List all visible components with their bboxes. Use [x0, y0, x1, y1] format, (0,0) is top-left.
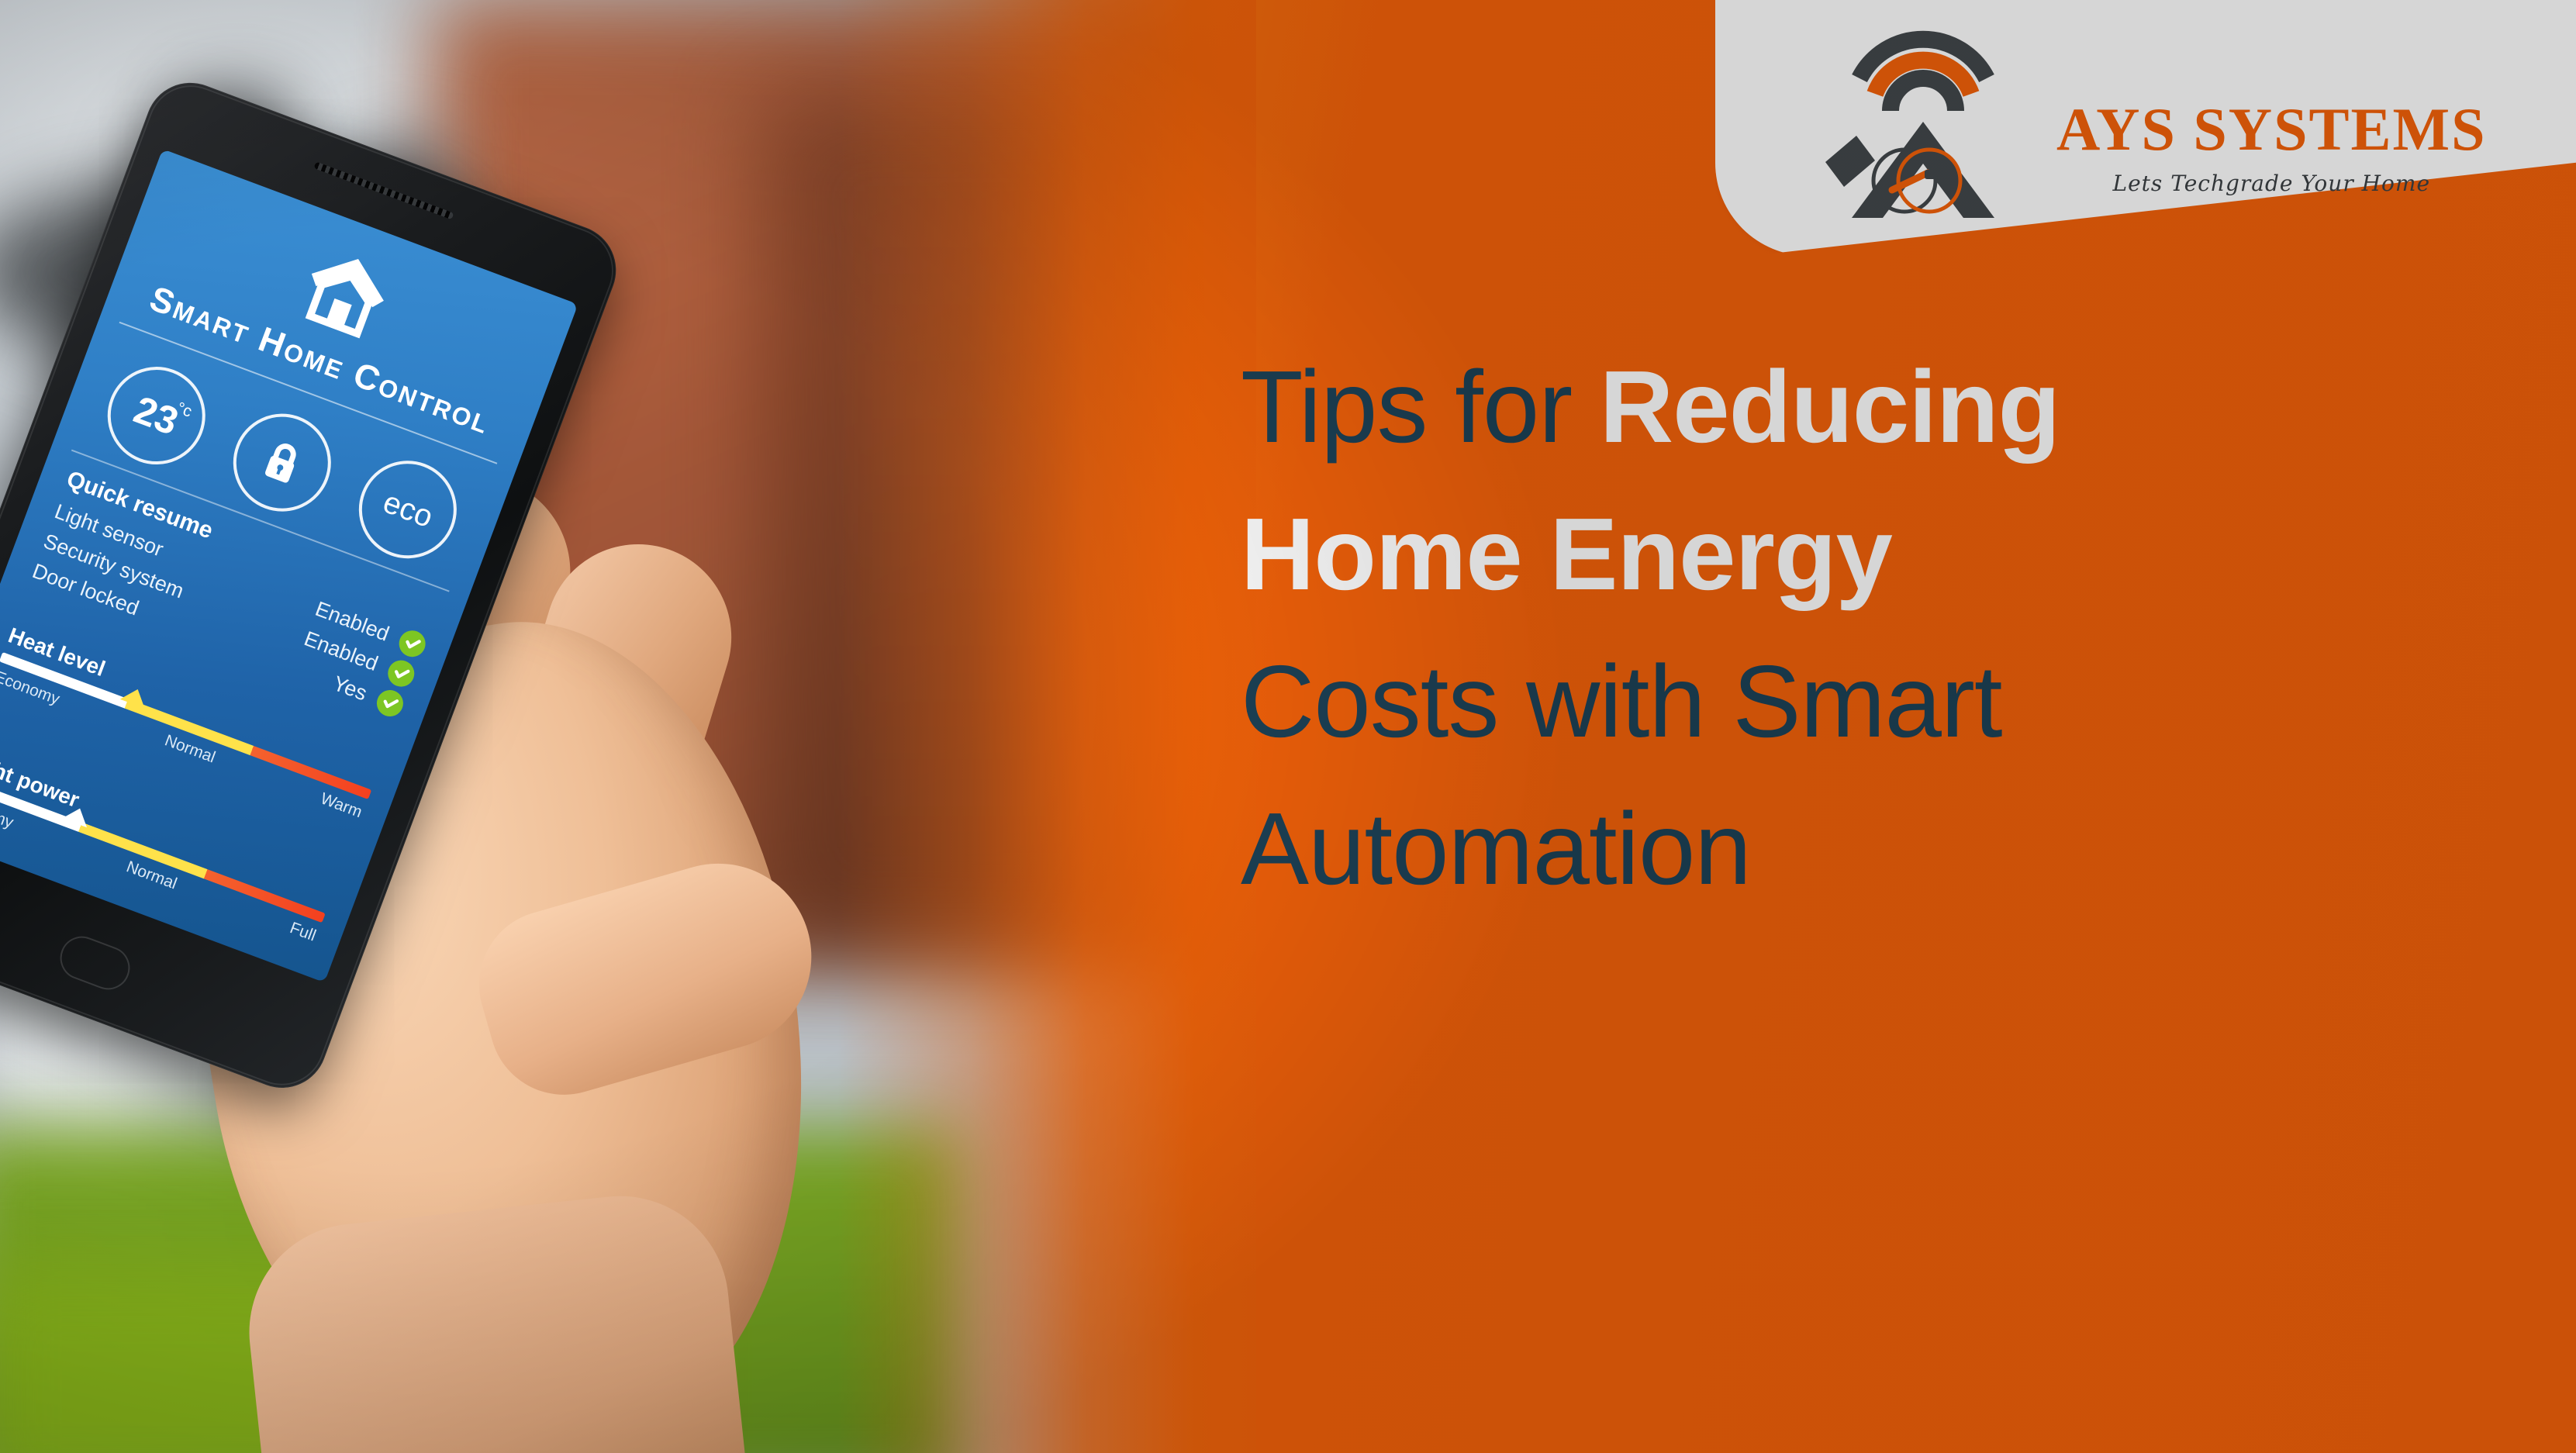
headline-block: Tips for Reducing Home Energy Costs with…: [1241, 333, 2419, 923]
headline-plain-3: Costs with Smart: [1241, 644, 2002, 758]
headline-plain-1: Tips for: [1241, 350, 1600, 464]
headline-line-4: Automation: [1241, 775, 2419, 923]
headline-plain-4: Automation: [1241, 792, 1751, 906]
headline-bold-1: Reducing: [1600, 350, 2060, 464]
headline-line-3: Costs with Smart: [1241, 628, 2419, 775]
logo-tagline: Lets Techgrade Your Home: [2056, 171, 2487, 196]
logo-text-block: AYS SYSTEMS Lets Techgrade Your Home: [2056, 45, 2487, 196]
headline-line-1: Tips for Reducing: [1241, 333, 2419, 481]
headline-bold-2: Home Energy: [1241, 497, 1892, 611]
logo-name: AYS SYSTEMS: [2056, 99, 2487, 160]
brand-logo[interactable]: AYS SYSTEMS Lets Techgrade Your Home: [1770, 8, 2545, 233]
wifi-house-icon: [1811, 19, 2036, 221]
headline-line-2: Home Energy: [1241, 481, 2419, 628]
promo-banner: Smart Home Control 23 °c: [0, 0, 2576, 1453]
